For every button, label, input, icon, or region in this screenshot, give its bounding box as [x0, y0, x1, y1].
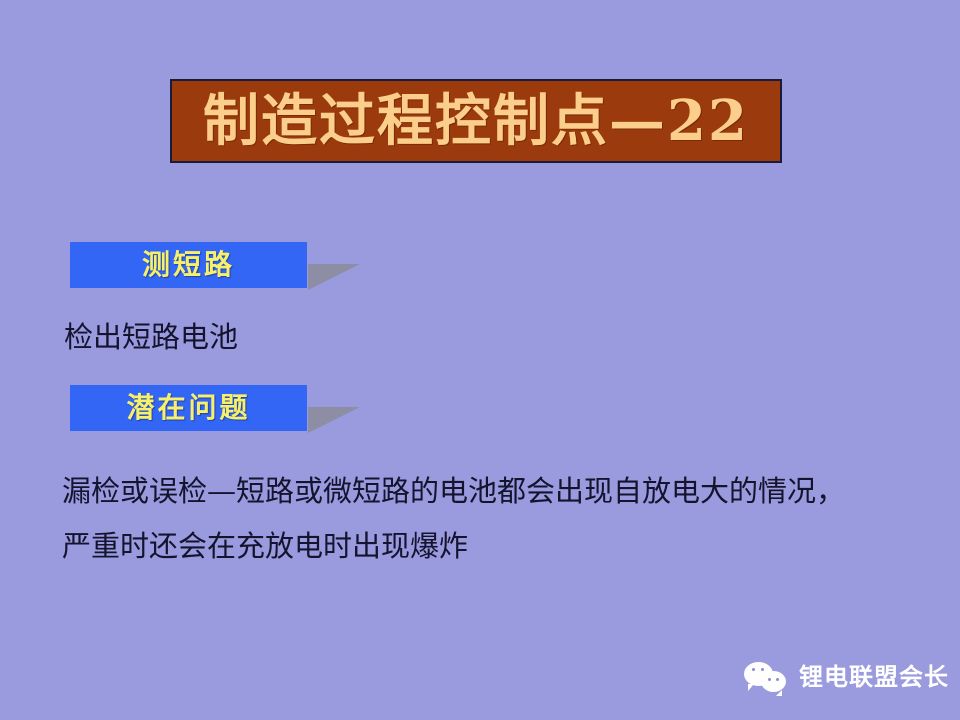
section-body-line: 检出短路电池: [64, 322, 238, 354]
slide-canvas: 制造过程控制点—22 测短路 检出短路电池 潜在问题 漏检或误检—短路或微短路的…: [0, 0, 960, 720]
section-banner-label: 测短路: [142, 251, 235, 279]
page-title: 制造过程控制点—22: [203, 93, 749, 149]
watermark-label: 锂电联盟会长: [799, 665, 949, 689]
section-banner-label: 潜在问题: [126, 394, 250, 422]
section-body-line: 漏检或误检—短路或微短路的电池都会出现自放电大的情况，: [62, 476, 845, 508]
section-banner-ce-duan-lu: 测短路: [70, 242, 307, 288]
wechat-icon: [744, 660, 790, 694]
section-banner-qian-zai-wen-ti: 潜在问题: [70, 385, 307, 431]
banner-tail-arrow-icon: [308, 407, 360, 433]
banner-tail-arrow-icon: [308, 264, 360, 290]
watermark: 锂电联盟会长: [744, 660, 949, 694]
slide-title-box: 制造过程控制点—22: [170, 79, 782, 163]
section-body-line: 严重时还会在充放电时出现爆炸: [62, 531, 468, 563]
